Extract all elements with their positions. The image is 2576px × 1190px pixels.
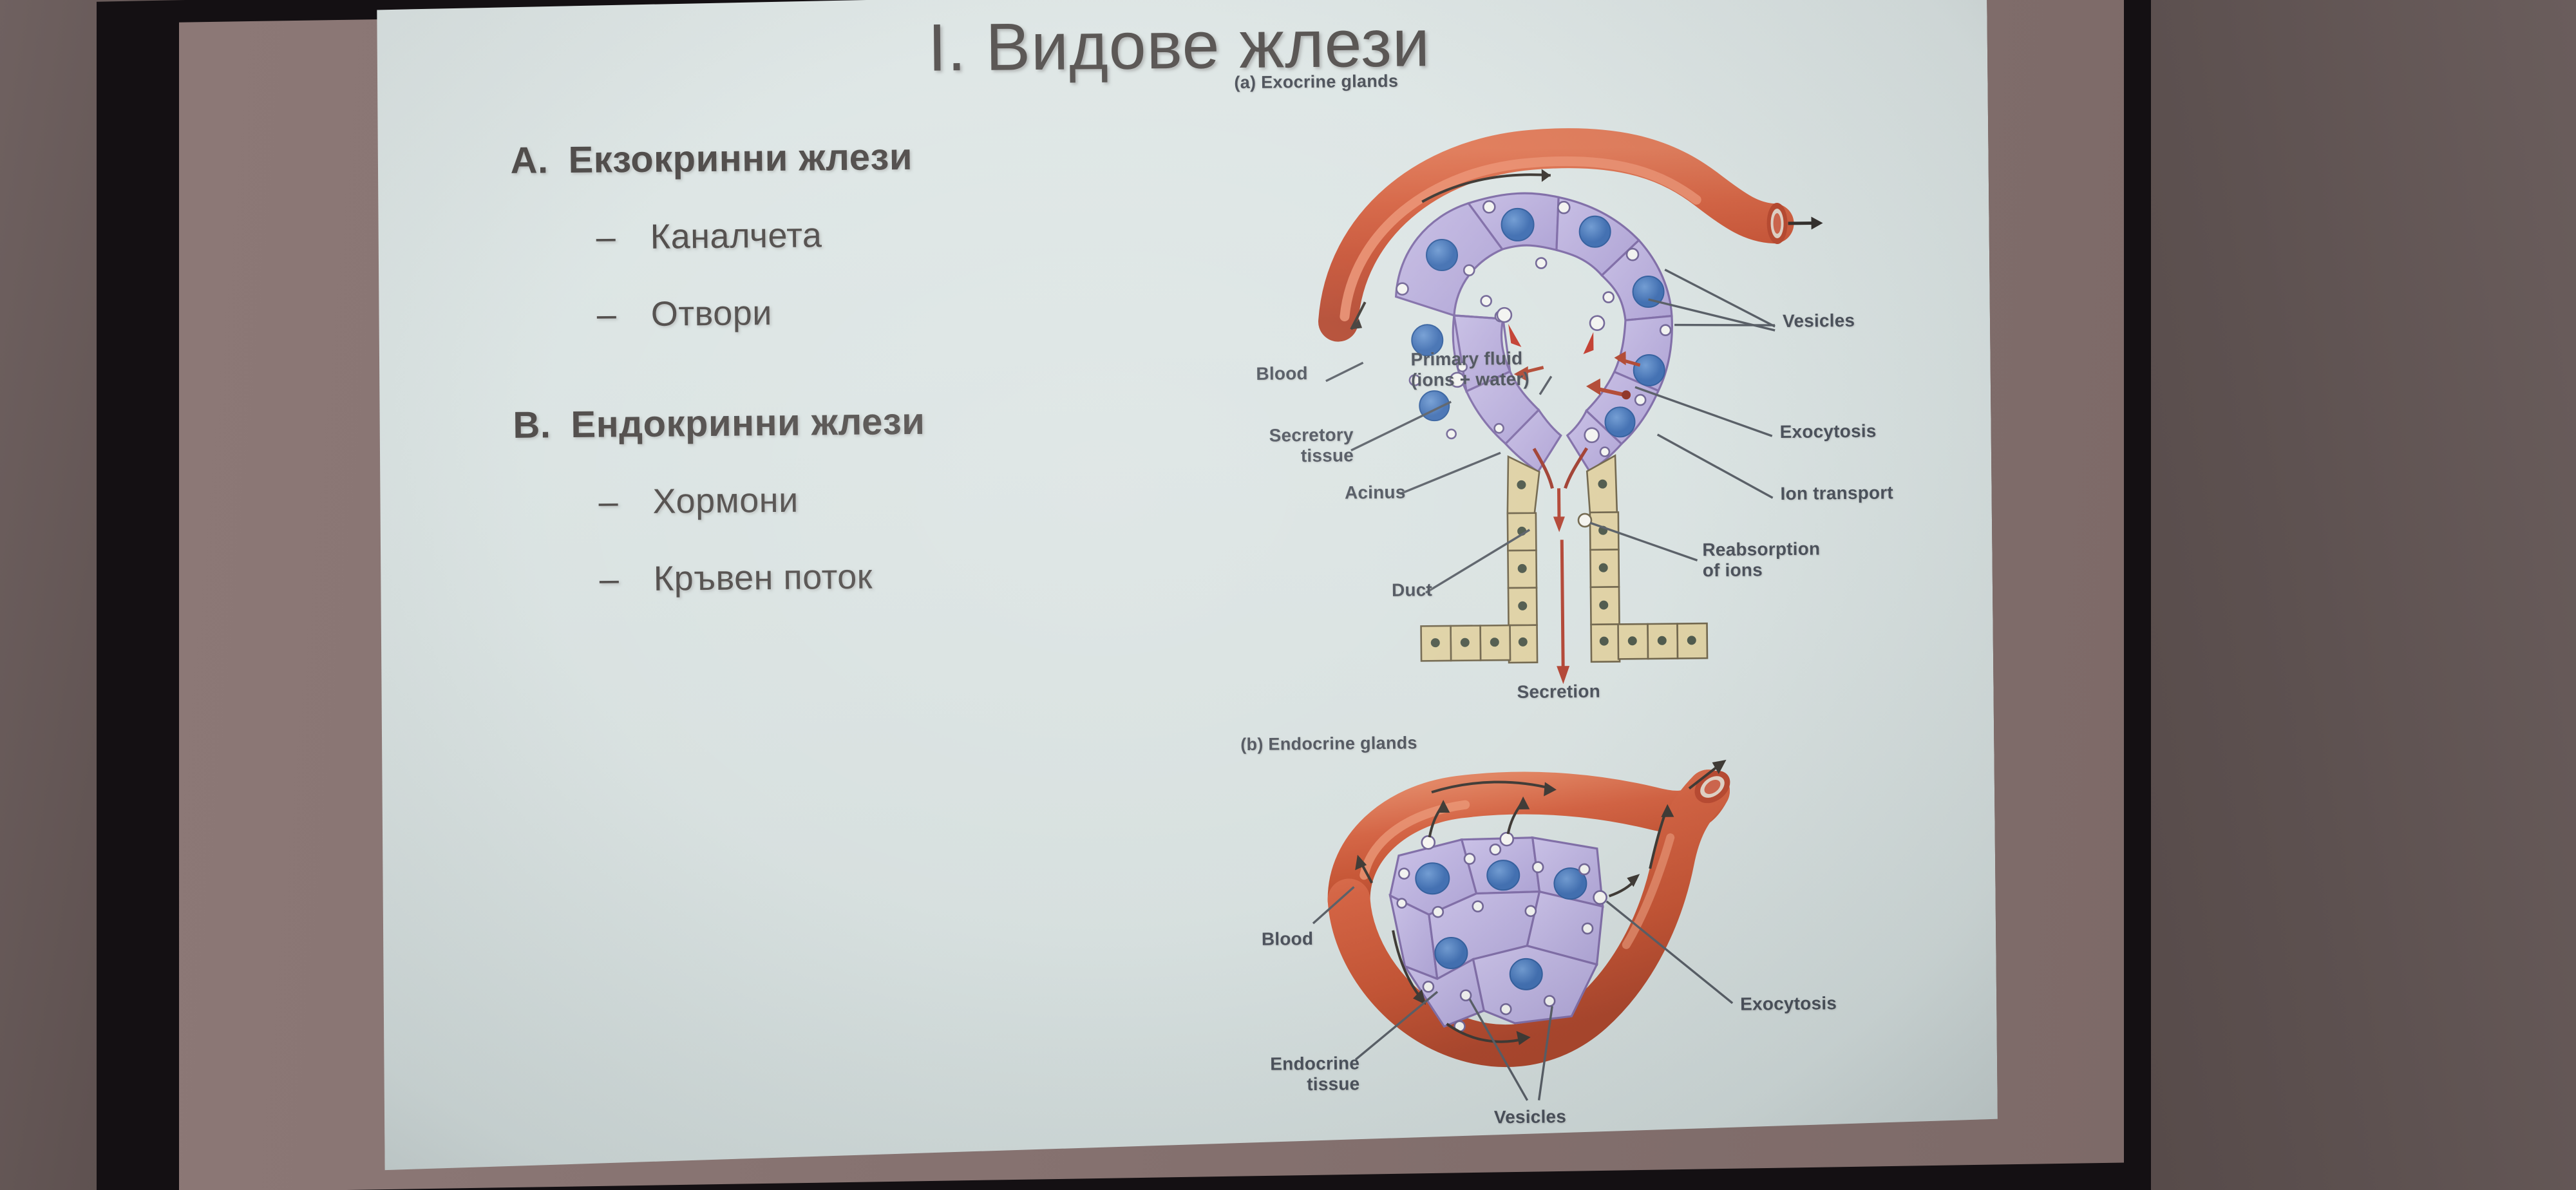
dash-bullet-icon: – (597, 294, 626, 334)
section-b-heading: B. Ендокринни жлези (513, 397, 1254, 447)
panel-b-endocrine-tissue-label: Endocrine tissue (1198, 1053, 1360, 1095)
section-a-label: Екзокринни жлези (568, 135, 913, 182)
slide-bullet-list: A. Екзокринни жлези – Каналчета – Отвори… (510, 132, 1255, 600)
panel-a-primary-fluid-label: Primary fluid (ions + water) (1410, 348, 1529, 391)
endocrine-gland-illustration (1234, 749, 1946, 1078)
section-b-bullet-2-label: Кръвен поток (653, 557, 873, 599)
section-b-label: Ендокринни жлези (571, 400, 925, 446)
dash-bullet-icon: – (598, 482, 627, 522)
panel-a-secretory-tissue-label: Secretory tissue (1180, 424, 1354, 467)
photo-of-projection-screen: I. Видове жлези A. Екзокринни жлези – Ка… (0, 0, 2576, 1190)
panel-a-secretion-label: Secretion (1517, 681, 1600, 703)
panel-a-acinus-label: Acinus (1193, 482, 1405, 505)
gland-diagram: (a) Exocrine glands (1227, 66, 1946, 1052)
panel-a-vesicles-label: Vesicles (1783, 310, 1855, 332)
dash-bullet-icon: – (596, 217, 625, 257)
panel-b-vesicles-label: Vesicles (1494, 1106, 1566, 1128)
section-b-bullet-1: – Хормони (598, 476, 1255, 522)
exocrine-gland-illustration (1228, 84, 1941, 581)
section-a-bullet-1: – Каналчета (596, 211, 1252, 258)
section-b-marker: B. (513, 403, 549, 447)
section-a-bullet-2-label: Отвори (651, 293, 773, 334)
panel-a-blood-label: Blood (1179, 363, 1308, 385)
panel-b-blood-label: Blood (1165, 929, 1313, 950)
panel-b-exocytosis-label: Exocytosis (1740, 993, 1837, 1014)
projected-slide: I. Видове жлези A. Екзокринни жлези – Ка… (370, 0, 1998, 1180)
panel-a-reabsorption-label: Reabsorption of ions (1702, 538, 1820, 581)
panel-a-ion-transport-label: Ion transport (1780, 482, 1893, 504)
section-b-bullet-1-label: Хормони (652, 480, 799, 522)
dash-bullet-icon: – (599, 559, 628, 599)
section-a-bullet-1-label: Каналчета (650, 215, 822, 257)
section-a-heading: A. Екзокринни жлези (510, 132, 1251, 182)
panel-b-caption: (b) Endocrine glands (1240, 733, 1417, 755)
room-wall-right (2125, 0, 2576, 1190)
panel-a-exocytosis-label: Exocytosis (1780, 421, 1877, 442)
panel-a-duct-label: Duct (1207, 580, 1432, 602)
section-b-bullet-2: – Кръвен поток (599, 553, 1255, 600)
section-a-marker: A. (510, 138, 547, 182)
section-a-bullet-2: – Отвори (597, 288, 1253, 335)
